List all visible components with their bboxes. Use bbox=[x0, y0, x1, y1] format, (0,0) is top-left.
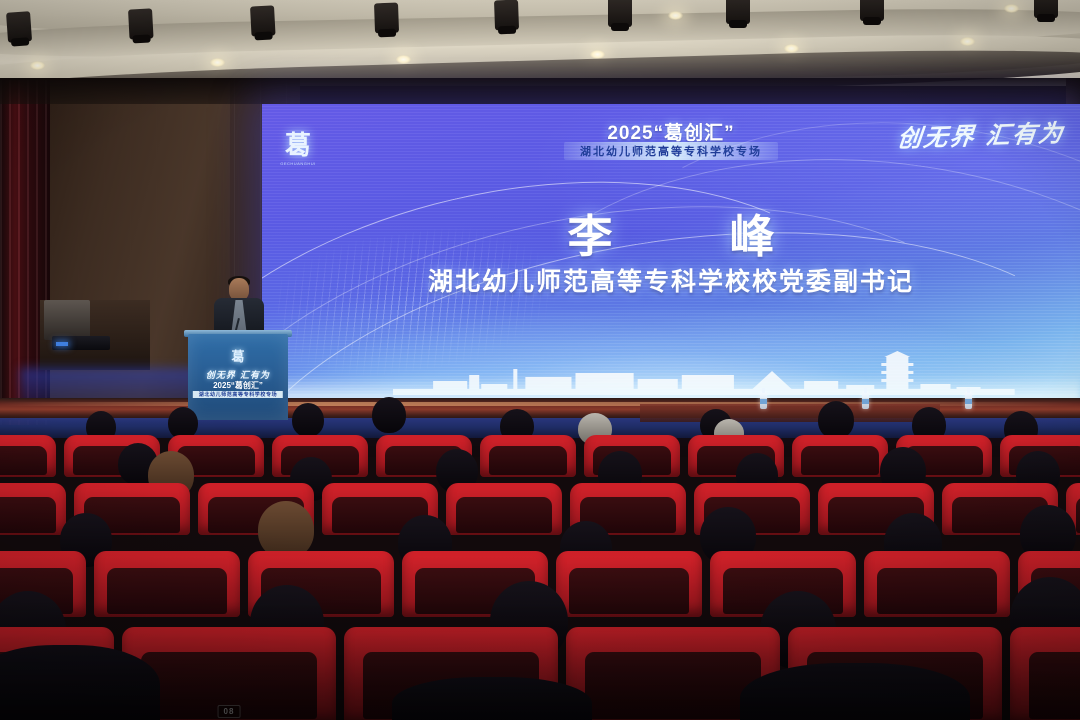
seat-panel bbox=[569, 568, 689, 614]
auditorium-photo: 葛 GECHUANGHUI 2025“葛创汇” 湖北幼儿师范高等专科学校专场 创… bbox=[0, 0, 1080, 720]
foreground-person bbox=[392, 677, 592, 720]
downlight-icon bbox=[30, 61, 45, 70]
ceiling bbox=[0, 0, 1080, 86]
podium-logo-mark: 葛 bbox=[188, 346, 288, 365]
seat[interactable] bbox=[556, 551, 702, 617]
seat-panel bbox=[1076, 497, 1080, 533]
seat[interactable] bbox=[94, 551, 240, 617]
downlight-icon bbox=[396, 55, 411, 64]
spotlight-icon bbox=[1034, 0, 1058, 18]
equipment-led-indicator bbox=[56, 342, 68, 346]
seat[interactable] bbox=[792, 435, 888, 477]
seat-panel bbox=[456, 497, 551, 533]
audience-head bbox=[292, 403, 324, 437]
led-scanlines bbox=[262, 104, 1080, 401]
seat[interactable] bbox=[480, 435, 576, 477]
spotlight-icon bbox=[726, 0, 750, 24]
audience-head bbox=[372, 397, 406, 433]
seat-panel bbox=[1029, 652, 1080, 719]
seat[interactable] bbox=[1010, 627, 1080, 720]
seat-panel bbox=[877, 568, 997, 614]
seat-panel bbox=[585, 652, 760, 719]
seat-number: 08 bbox=[218, 705, 241, 718]
seat-panel bbox=[801, 446, 880, 475]
spotlight-icon bbox=[250, 5, 276, 36]
downlight-icon bbox=[668, 11, 683, 20]
equipment-box bbox=[44, 300, 90, 340]
seat[interactable] bbox=[864, 551, 1010, 617]
spotlight-icon bbox=[6, 11, 32, 43]
downlight-icon bbox=[1004, 4, 1019, 13]
seat-panel bbox=[107, 568, 227, 614]
audience-area: 08 bbox=[0, 395, 1080, 720]
audience-head bbox=[818, 401, 854, 439]
seat[interactable] bbox=[446, 483, 562, 535]
seat-panel bbox=[0, 446, 47, 475]
wall-shadow bbox=[0, 78, 1080, 104]
spotlight-icon bbox=[494, 0, 519, 30]
downlight-icon bbox=[960, 37, 975, 46]
led-stage-screen: 葛 GECHUANGHUI 2025“葛创汇” 湖北幼儿师范高等专科学校专场 创… bbox=[262, 104, 1080, 401]
seat[interactable] bbox=[0, 483, 66, 535]
downlight-icon bbox=[784, 44, 799, 53]
seat[interactable] bbox=[0, 435, 56, 477]
foreground-person bbox=[0, 645, 160, 720]
seat-panel bbox=[0, 497, 56, 533]
spotlight-icon bbox=[608, 0, 632, 27]
downlight-icon bbox=[210, 58, 225, 67]
spotlight-icon bbox=[860, 0, 884, 21]
seat-panel bbox=[489, 446, 568, 475]
foreground-person bbox=[740, 663, 970, 720]
spotlight-icon bbox=[374, 3, 399, 34]
podium-title: 2025“葛创汇” bbox=[188, 380, 288, 391]
speaker-person bbox=[210, 278, 268, 336]
spotlight-icon bbox=[128, 8, 154, 39]
